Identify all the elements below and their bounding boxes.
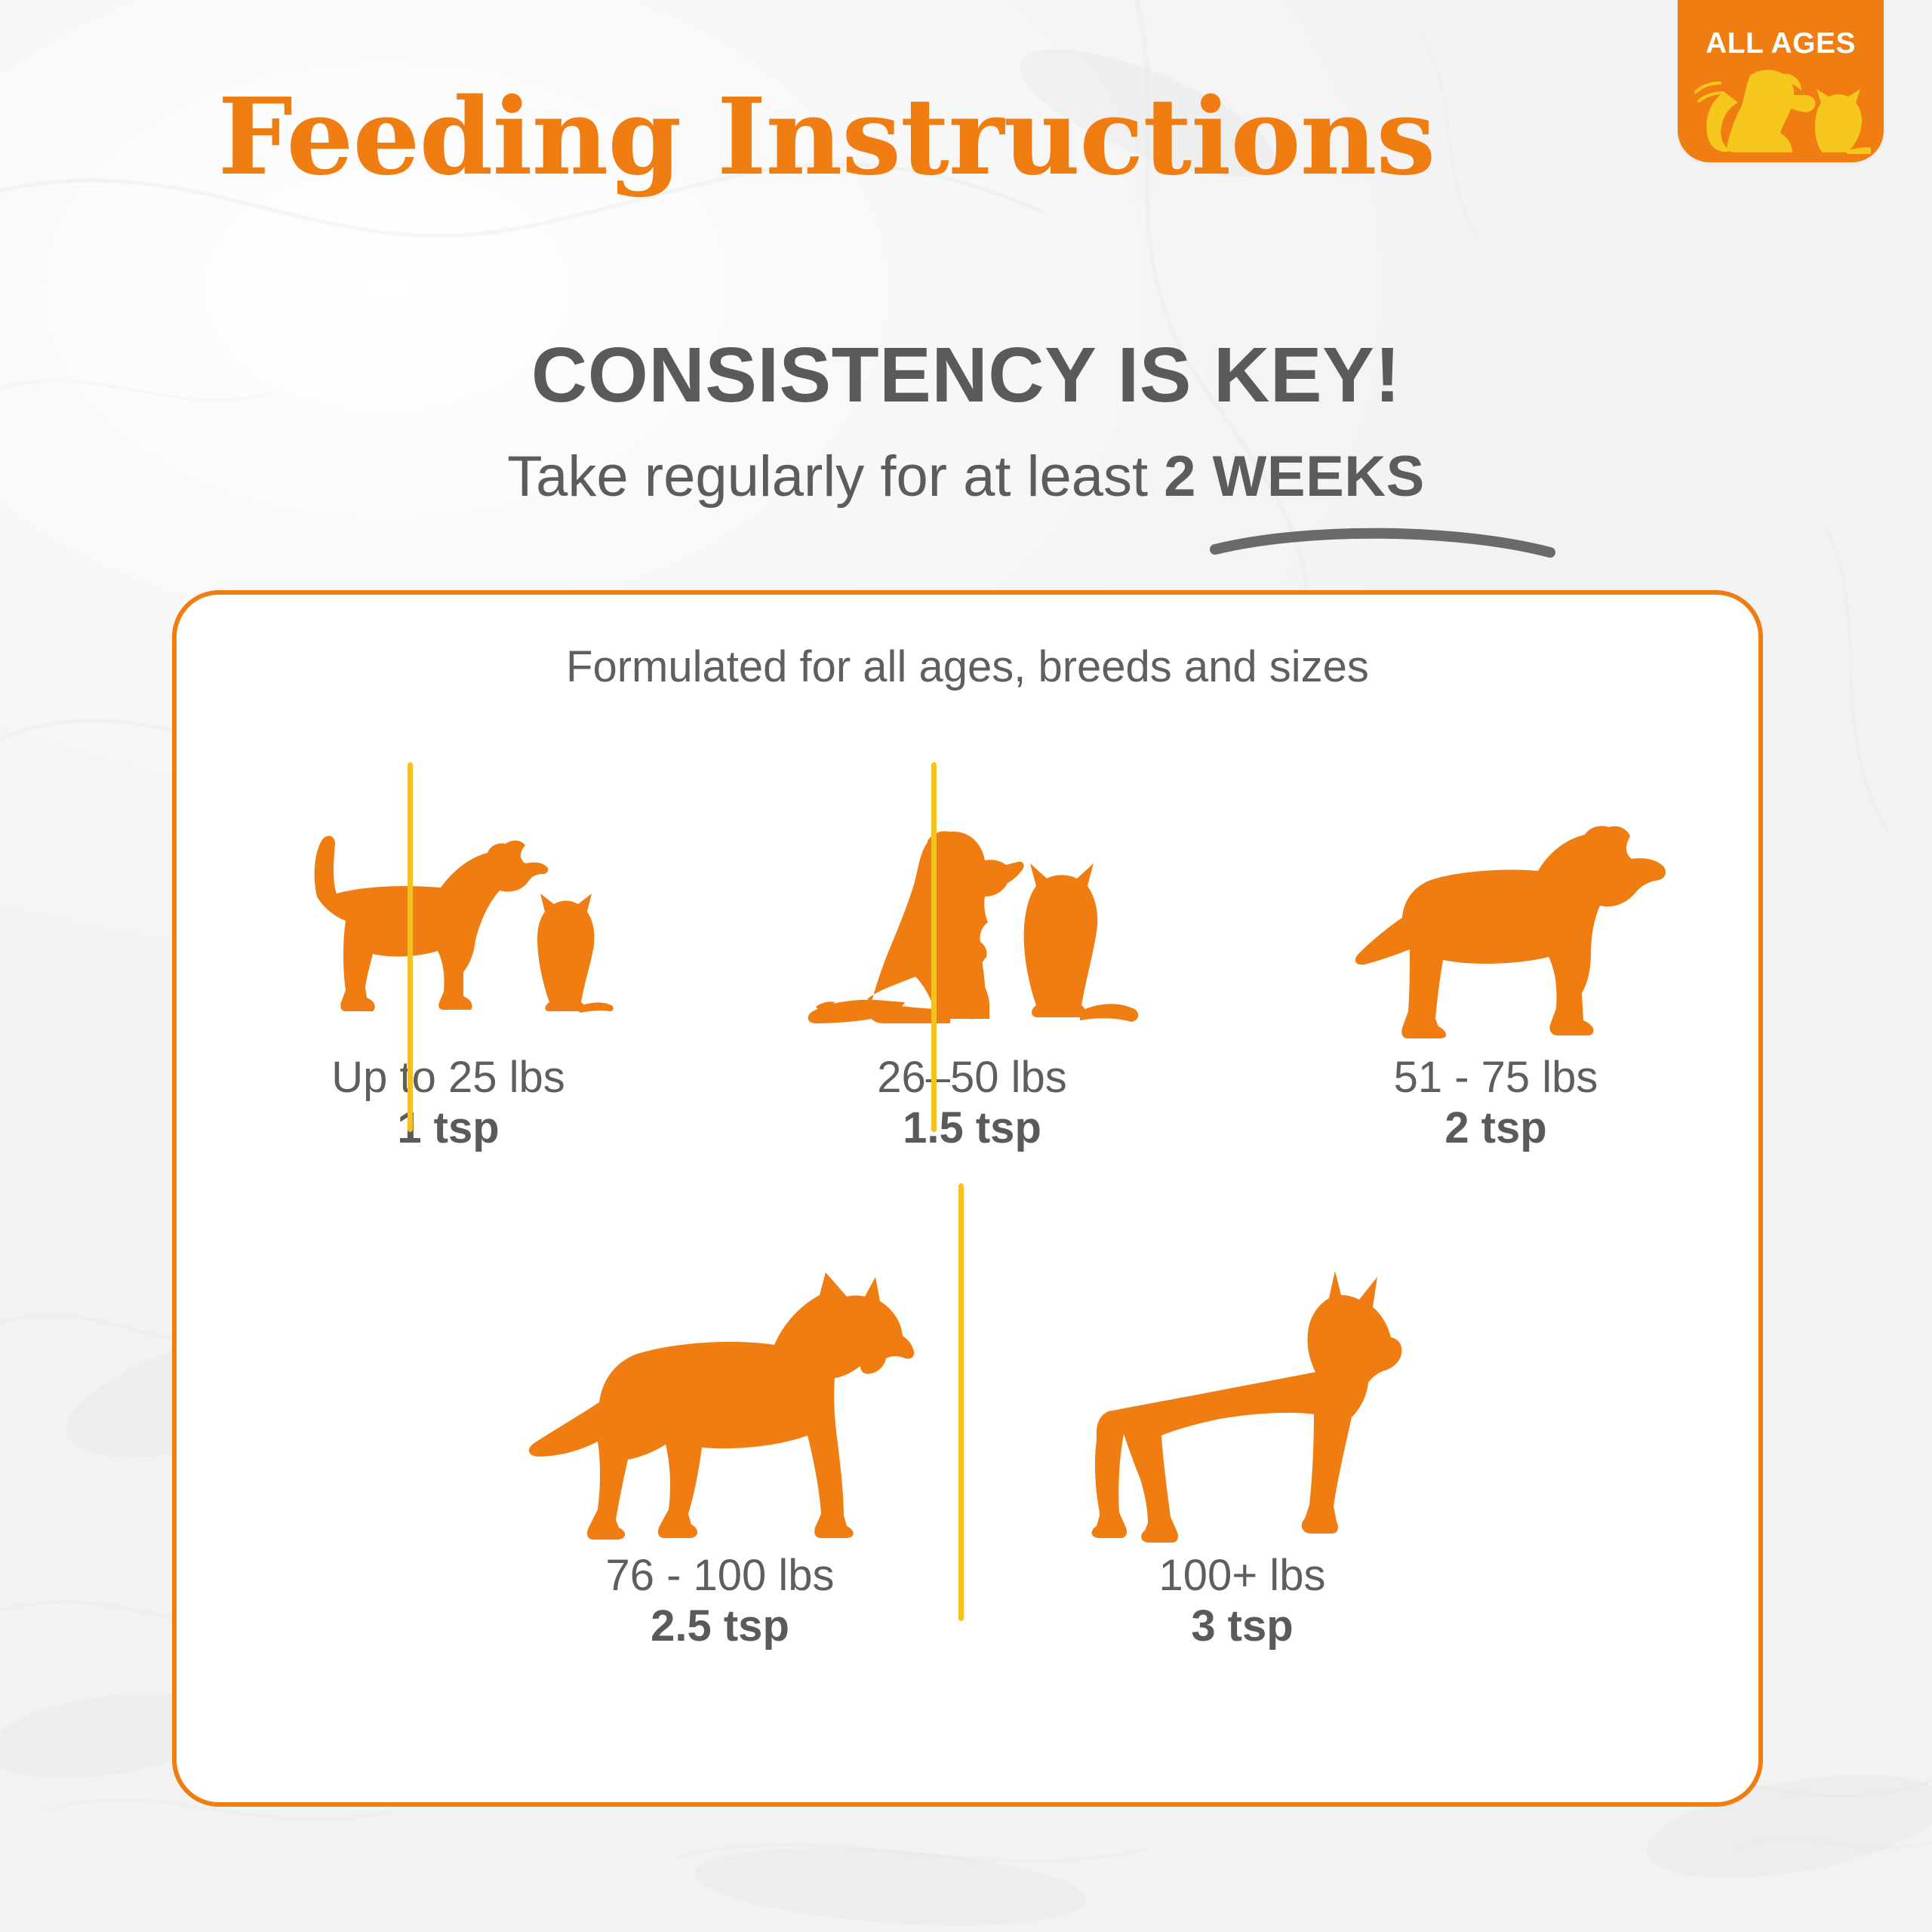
small-dog-and-cat-icon [222,821,675,1048]
dosing-row-1: Up to 25 lbs 1 tsp [177,821,1758,1289]
dosing-amount-label: 1.5 tsp [746,1103,1198,1153]
dosing-row-2: 76 - 100 lbs 2.5 tsp 100+ lbs 3 tsp [177,1266,1758,1780]
dosing-amount-label: 2 tsp [1269,1103,1722,1153]
dosing-cell-up-to-25: Up to 25 lbs 1 tsp [222,821,675,1154]
dosing-amount-label: 2.5 tsp [478,1601,961,1651]
dog-and-cat-silhouette-icon [1691,63,1871,158]
dosing-weight-label: Up to 25 lbs [222,1052,675,1103]
all-ages-badge: ALL AGES [1678,0,1884,162]
divider-row2 [958,1183,964,1621]
dosing-weight-label: 26–50 lbs [746,1052,1198,1103]
subline-emphasis: 2 WEEKS [1164,445,1425,509]
dosing-amount-label: 1 tsp [222,1103,675,1153]
divider-row1-left [408,762,413,1132]
dosing-cell-76-100: 76 - 100 lbs 2.5 tsp [478,1266,961,1652]
underline-swoosh-icon [1209,516,1556,561]
dosing-cell-100-plus: 100+ lbs 3 tsp [1016,1266,1469,1652]
headline: CONSISTENCY IS KEY! [0,331,1932,420]
labrador-dog-icon [1269,821,1722,1048]
subline-prefix: Take regularly for at least [507,445,1164,509]
dosing-amount-label: 3 tsp [1016,1601,1469,1651]
card-subtitle: Formulated for all ages, breeds and size… [177,641,1758,692]
dosing-weight-label: 51 - 75 lbs [1269,1052,1722,1103]
feeding-chart-card: Formulated for all ages, breeds and size… [172,590,1763,1807]
sitting-dog-and-cat-icon [746,821,1198,1048]
dosing-cell-26-50: 26–50 lbs 1.5 tsp [746,821,1198,1154]
divider-row1-right [931,762,937,1132]
great-dane-dog-icon [1016,1266,1469,1546]
dosing-cell-51-75: 51 - 75 lbs 2 tsp [1269,821,1722,1154]
dosing-weight-label: 76 - 100 lbs [478,1550,961,1601]
subline: Take regularly for at least 2 WEEKS [0,444,1932,509]
all-ages-badge-label: ALL AGES [1678,27,1884,60]
dosing-weight-label: 100+ lbs [1016,1550,1469,1601]
page-title: Feeding Instructions [0,85,1653,190]
shepherd-dog-icon [478,1266,961,1546]
